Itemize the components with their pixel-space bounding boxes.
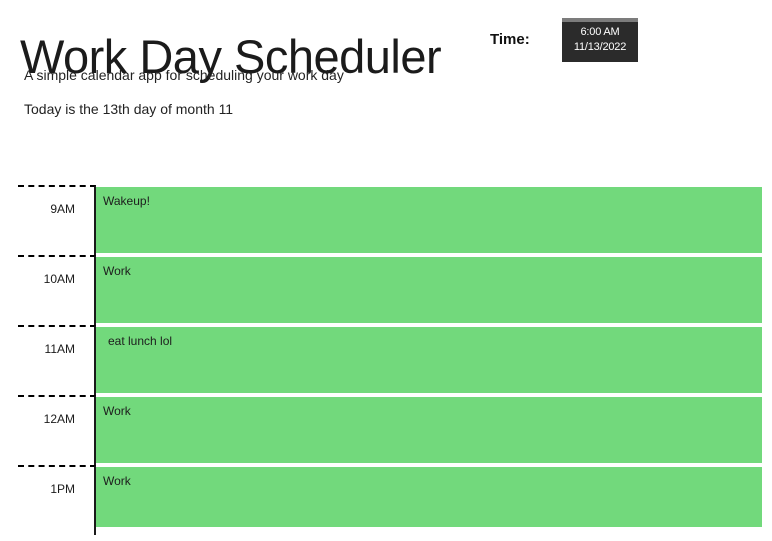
hour-label: 10AM	[44, 272, 75, 286]
app-header: Work Day Scheduler A simple calendar app…	[0, 0, 772, 180]
time-block: 11AM eat lunch lol	[0, 325, 772, 395]
current-time-value: 6:00 AM	[562, 25, 638, 40]
hour-cell: 10AM	[18, 255, 96, 325]
hour-cell: 9AM	[18, 185, 96, 255]
time-block: 9AM Wakeup!	[0, 185, 772, 255]
hour-label: 11AM	[45, 342, 75, 356]
hour-cell: 12AM	[18, 395, 96, 465]
event-text[interactable]: eat lunch lol	[108, 334, 762, 349]
current-date-value: 11/13/2022	[562, 40, 638, 55]
event-text[interactable]: Work	[103, 264, 762, 279]
schedule-container: 9AM Wakeup! 10AM Work 11AM eat lunch lol…	[0, 185, 772, 535]
hour-label: 9AM	[50, 202, 75, 216]
event-text[interactable]: Wakeup!	[103, 194, 762, 209]
app-subtitle: A simple calendar app for scheduling you…	[24, 66, 344, 84]
event-input[interactable]: eat lunch lol	[96, 327, 762, 393]
event-text[interactable]: Work	[103, 404, 762, 419]
time-label: Time:	[490, 31, 530, 48]
current-time-widget: 6:00 AM 11/13/2022	[562, 18, 638, 62]
hour-cell: 11AM	[18, 325, 96, 395]
time-block: 1PM Work	[0, 465, 772, 535]
hour-label: 1PM	[50, 482, 75, 496]
time-block: 12AM Work	[0, 395, 772, 465]
event-input[interactable]: Work	[96, 467, 762, 527]
hour-label: 12AM	[44, 412, 75, 426]
time-area: Time: 6:00 AM 11/13/2022	[490, 14, 650, 66]
event-input[interactable]: Work	[96, 397, 762, 463]
event-input[interactable]: Wakeup!	[96, 187, 762, 253]
event-input[interactable]: Work	[96, 257, 762, 323]
hour-cell: 1PM	[18, 465, 96, 535]
event-text[interactable]: Work	[103, 474, 762, 489]
today-date-text: Today is the 13th day of month 11	[24, 100, 233, 118]
time-block: 10AM Work	[0, 255, 772, 325]
